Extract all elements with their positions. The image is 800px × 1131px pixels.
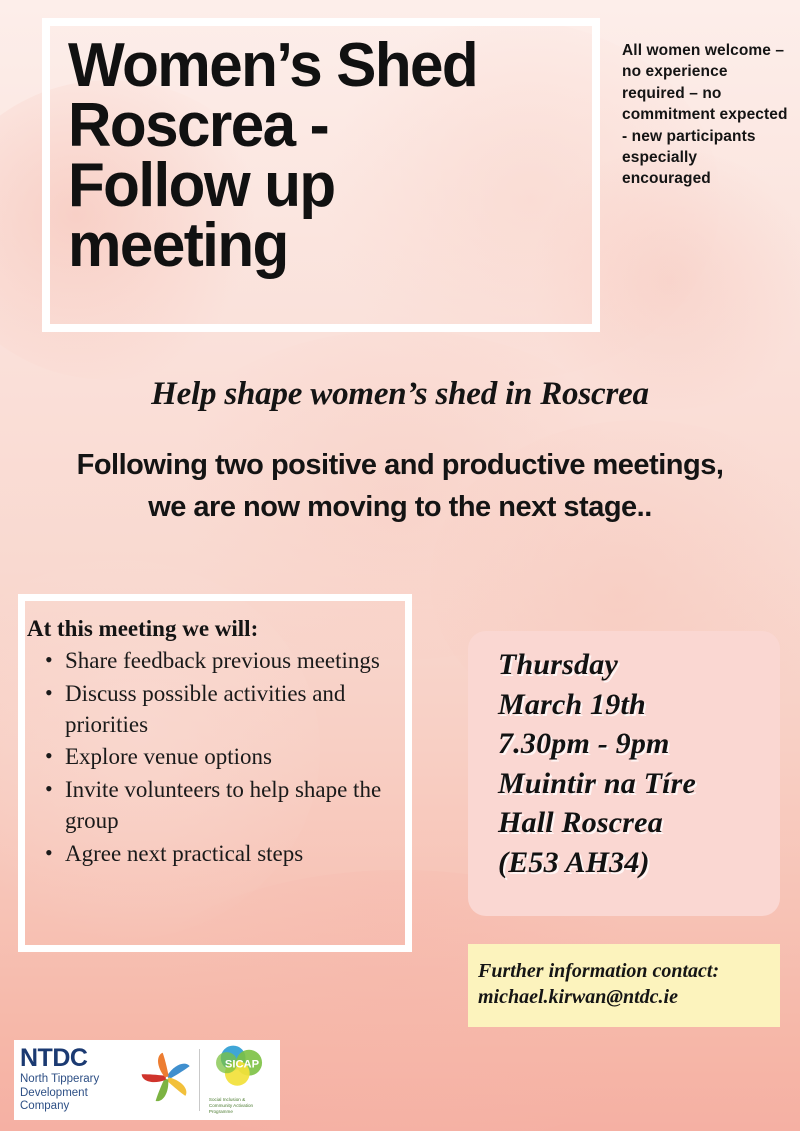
agenda-content: At this meeting we will: Share feedback … (27, 616, 403, 872)
poster: Women’s Shed Roscrea - Follow up meeting… (0, 0, 800, 1131)
contact-text: Further information contact: michael.kir… (478, 958, 778, 1010)
list-item: Share feedback previous meetings (65, 646, 403, 677)
list-item: Agree next practical steps (65, 839, 403, 870)
poster-title: Women’s Shed Roscrea - Follow up meeting (68, 36, 563, 277)
list-item: Discuss possible activities and prioriti… (65, 679, 403, 741)
ntdc-subtitle: North Tipperary Development Company (20, 1073, 138, 1114)
agenda-heading: At this meeting we will: (27, 616, 403, 642)
ntdc-logo: NTDC North Tipperary Development Company (14, 1046, 194, 1114)
sicap-logo: SICAP Social Inclusion & Community Activ… (205, 1045, 280, 1115)
poster-subtitle: Help shape women’s shed in Roscrea (0, 376, 800, 413)
ntdc-swirl-icon (140, 1051, 194, 1110)
ntdc-acronym: NTDC (20, 1046, 138, 1071)
sicap-mark-icon: SICAP (206, 1078, 278, 1095)
logo-divider (199, 1049, 200, 1111)
logo-strip: NTDC North Tipperary Development Company (14, 1040, 280, 1120)
welcome-note: All women welcome – no experience requir… (622, 40, 790, 190)
list-item: Explore venue options (65, 742, 403, 773)
sicap-subtitle: Social Inclusion & Community Activation … (205, 1097, 280, 1115)
ntdc-wordmark: NTDC North Tipperary Development Company (20, 1046, 138, 1114)
event-details-text: Thursday March 19th 7.30pm - 9pm Muintir… (498, 645, 788, 883)
list-item: Invite volunteers to help shape the grou… (65, 775, 403, 837)
sicap-acronym: SICAP (225, 1058, 260, 1070)
agenda-list: Share feedback previous meetings Discuss… (27, 646, 403, 870)
intro-paragraph: Following two positive and productive me… (70, 444, 730, 528)
